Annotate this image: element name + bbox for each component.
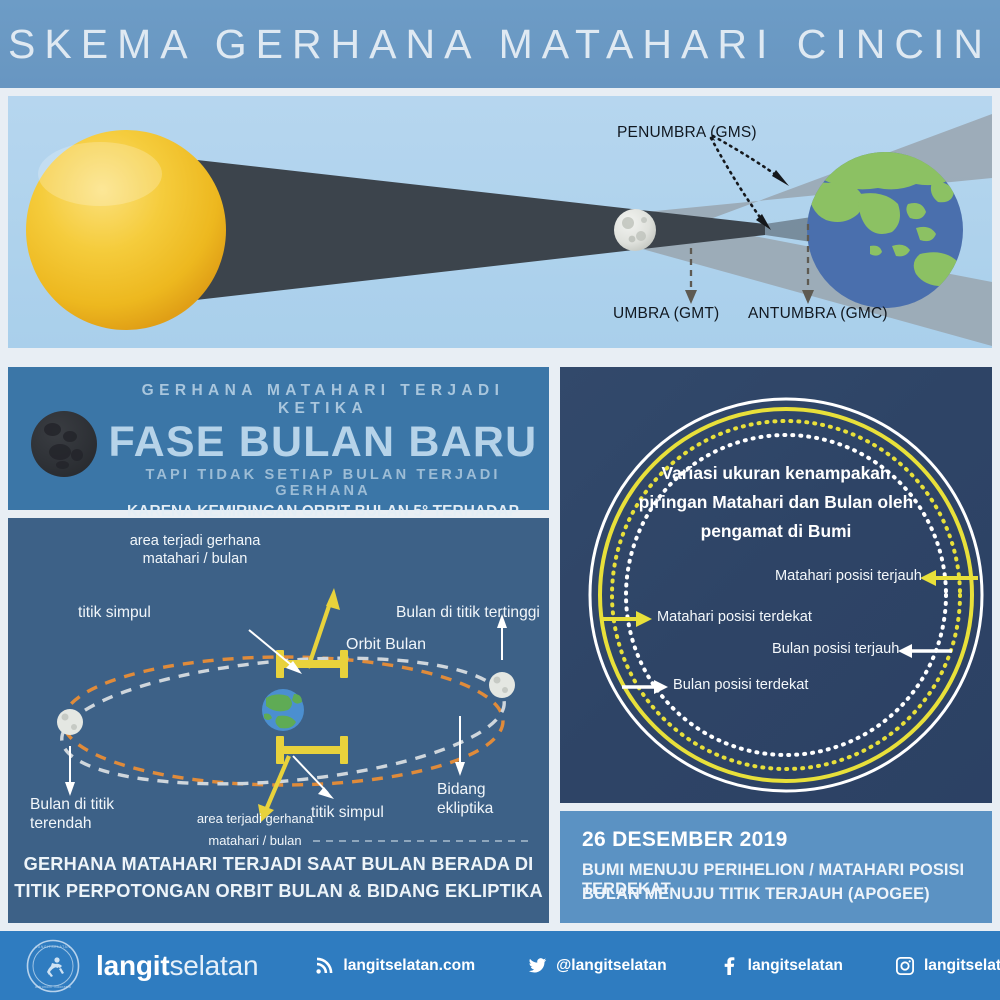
rss-icon	[314, 956, 334, 976]
arrow-sun-nearest	[600, 611, 652, 627]
moon-body	[614, 209, 656, 251]
label-node-bottom: titik simpul	[311, 803, 384, 822]
moon-lowest-icon	[57, 709, 83, 735]
label-eclipse-area-bottom-line2: matahari / bulan	[190, 830, 320, 852]
apparent-size-title: Variasi ukuran kenampakan piringan Matah…	[560, 459, 992, 546]
phase-line-1: GERHANA MATAHARI TERJADI KETIKA	[103, 382, 543, 418]
label-moon-lowest-line2: terendah	[30, 814, 114, 833]
apparent-size-title-line1: Variasi ukuran kenampakan	[560, 459, 992, 488]
label-eclipse-area-top-line2: matahari / bulan	[100, 550, 290, 568]
label-eclipse-area-top-line1: area terjadi gerhana	[100, 532, 290, 550]
label-moon-nearest: Bulan posisi terdekat	[673, 677, 808, 693]
footer-link-facebook-label: langitselatan	[748, 957, 843, 975]
header-bar: SKEMA GERHANA MATAHARI CINCIN	[0, 0, 1000, 88]
label-moon-orbit: Orbit Bulan	[346, 635, 426, 655]
twitter-icon	[527, 956, 547, 976]
node-leader-top	[249, 630, 295, 668]
brand-wordmark-light: selatan	[169, 950, 258, 981]
label-sun-farthest: Matahari posisi terjauh	[775, 568, 922, 584]
phase-line-3: TAPI TIDAK SETIAP BULAN TERJADI GERHANA	[103, 467, 543, 499]
footer-link-twitter-label: @langitselatan	[556, 957, 667, 975]
moon-highest-icon	[489, 672, 515, 698]
page-title: SKEMA GERHANA MATAHARI CINCIN	[8, 21, 992, 68]
date-banner: 26 DESEMBER 2019 BUMI MENUJU PERIHELION …	[560, 811, 992, 923]
footer-bar: LANGITSELATAN astronomi indonesia langit…	[0, 931, 1000, 1000]
new-moon-phase-panel: GERHANA MATAHARI TERJADI KETIKA FASE BUL…	[8, 367, 549, 510]
label-umbra: UMBRA (GMT)	[613, 305, 719, 323]
moon-orbit-panel: area terjadi gerhana matahari / bulan ti…	[8, 518, 549, 923]
label-eclipse-area-bottom-line1: area terjadi gerhana	[190, 808, 320, 830]
svg-text:astronomi indonesia: astronomi indonesia	[35, 985, 71, 989]
orbit-caption-line1: GERHANA MATAHARI TERJADI SAAT BULAN BERA…	[8, 851, 549, 878]
facebook-icon	[719, 956, 739, 976]
label-sun-nearest: Matahari posisi terdekat	[657, 609, 812, 625]
phase-line-2: FASE BULAN BARU	[103, 419, 543, 465]
footer-link-website[interactable]: langitselatan.com	[314, 956, 475, 976]
label-ecliptic-plane-line2: ekliptika	[437, 799, 493, 818]
label-moon-highest: Bulan di titik tertinggi	[396, 603, 540, 622]
label-eclipse-area-top: area terjadi gerhana matahari / bulan	[100, 532, 290, 568]
label-moon-lowest: Bulan di titik terendah	[30, 795, 114, 834]
antumbra-arrowhead	[802, 290, 814, 304]
label-moon-farthest: Bulan posisi terjauh	[772, 641, 899, 657]
footer-link-instagram-label: langitselatanmedia	[924, 957, 1000, 975]
umbra-arrowhead	[685, 290, 697, 304]
node-leader-bottom	[293, 756, 328, 793]
brand-wordmark: langitselatan	[96, 950, 258, 982]
ring-moon-nearest	[590, 399, 982, 791]
date-line-2: BULAN MENUJU TITIK TERJAUH (APOGEE)	[582, 885, 930, 904]
apparent-size-panel: Variasi ukuran kenampakan piringan Matah…	[560, 367, 992, 803]
footer-link-instagram[interactable]: langitselatanmedia	[895, 956, 1000, 976]
eclipse-geometry-panel: PENUMBRA (GMS) UMBRA (GMT) ANTUMBRA (GMC…	[8, 96, 992, 348]
apparent-size-title-line3: pengamat di Bumi	[560, 517, 992, 546]
eclipse-area-arrow-bottom	[266, 756, 289, 810]
brand-wordmark-bold: langit	[96, 950, 169, 981]
apparent-size-title-line2: piringan Matahari dan Bulan oleh	[560, 488, 992, 517]
brand-block[interactable]: LANGITSELATAN astronomi indonesia langit…	[26, 939, 258, 993]
label-penumbra: PENUMBRA (GMS)	[617, 124, 757, 142]
apparent-size-svg	[560, 367, 992, 803]
label-node-top: titik simpul	[78, 603, 151, 622]
phase-text-block: GERHANA MATAHARI TERJADI KETIKA FASE BUL…	[103, 372, 543, 539]
date-headline: 26 DESEMBER 2019	[582, 828, 788, 852]
instagram-icon	[895, 956, 915, 976]
label-ecliptic-plane: Bidang ekliptika	[437, 780, 493, 819]
footer-link-facebook[interactable]: langitselatan	[719, 956, 843, 976]
orbit-caption: GERHANA MATAHARI TERJADI SAAT BULAN BERA…	[8, 851, 549, 905]
new-moon-icon	[31, 411, 97, 477]
label-antumbra: ANTUMBRA (GMC)	[748, 305, 888, 323]
social-links: langitselatan.com @langitselatan langits…	[314, 956, 1000, 976]
orbit-caption-line2: TITIK PERPOTONGAN ORBIT BULAN & BIDANG E…	[8, 878, 549, 905]
infographic-page: SKEMA GERHANA MATAHARI CINCIN	[0, 0, 1000, 1000]
label-moon-lowest-line1: Bulan di titik	[30, 795, 114, 814]
footer-link-website-label: langitselatan.com	[343, 957, 475, 975]
svg-text:LANGITSELATAN: LANGITSELATAN	[36, 945, 71, 949]
langitselatan-seal-icon: LANGITSELATAN astronomi indonesia	[26, 939, 80, 993]
footer-link-twitter[interactable]: @langitselatan	[527, 956, 667, 976]
arrow-moon-farthest	[898, 644, 952, 658]
earth-small-icon	[262, 689, 304, 731]
label-ecliptic-plane-line1: Bidang	[437, 780, 493, 799]
label-eclipse-area-bottom: area terjadi gerhana matahari / bulan	[190, 808, 320, 852]
